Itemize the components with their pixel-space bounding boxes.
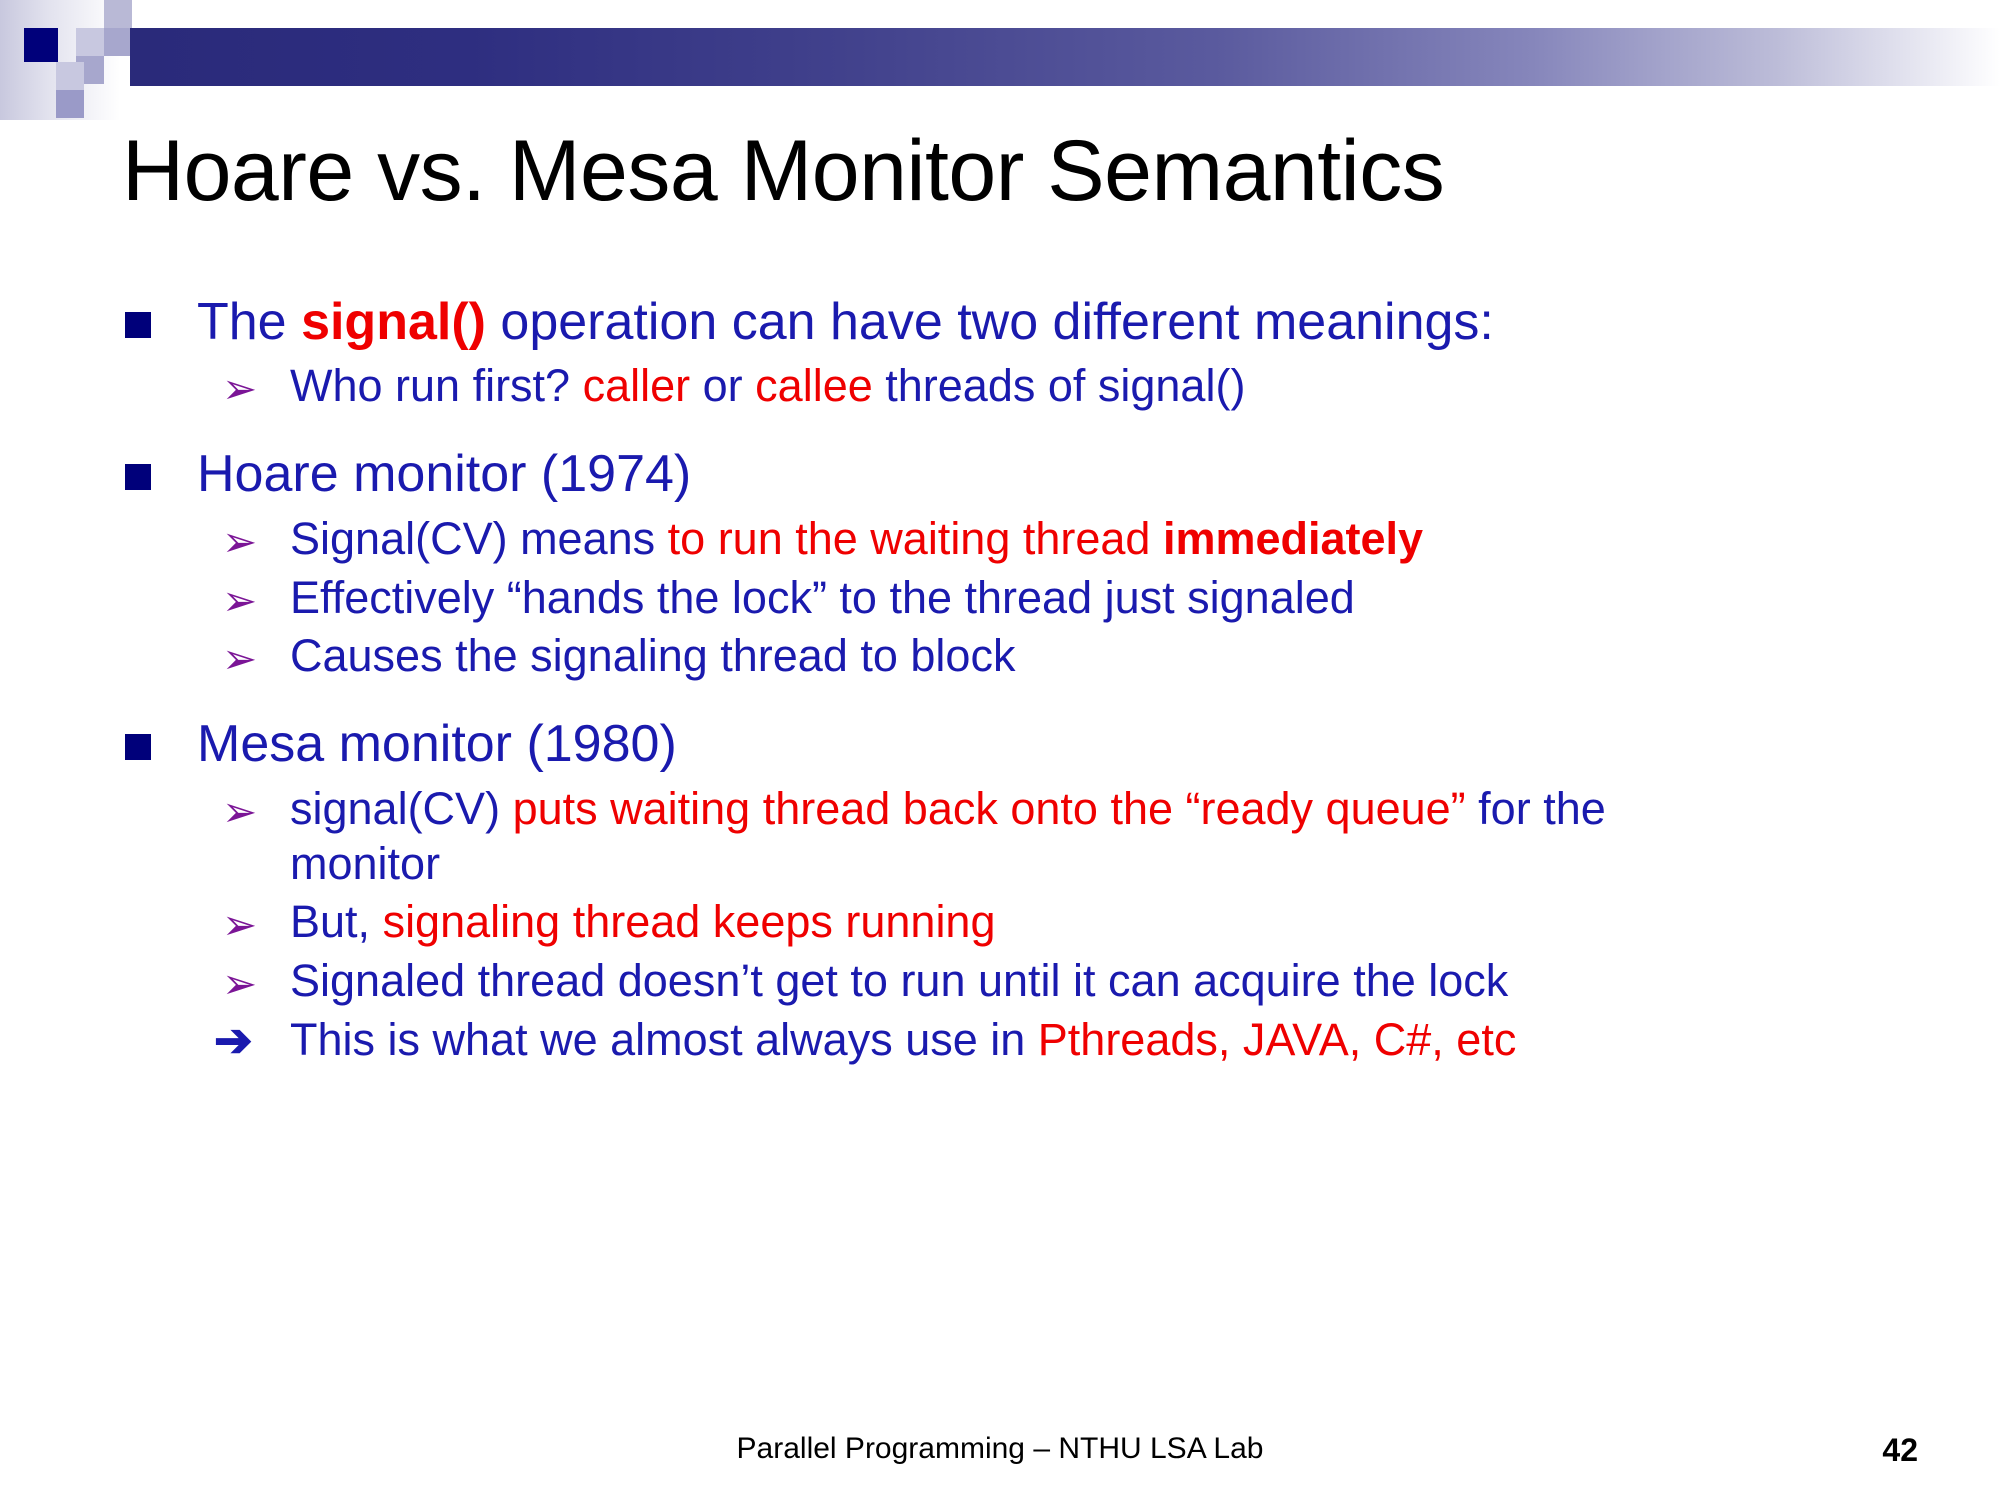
bullet-text: Hoare monitor (1974) — [197, 445, 691, 503]
subbullet-text: Effectively “hands the lock” to the thre… — [290, 572, 1355, 623]
text-run: callee — [755, 360, 873, 411]
square-bullet-icon — [125, 464, 151, 490]
page-title: Hoare vs. Mesa Monitor Semantics — [122, 128, 1922, 214]
subbullet-text: Causes the signaling thread to block — [290, 630, 1015, 681]
text-run: to run the waiting thread — [668, 513, 1163, 564]
bullet-mesa-monitor: Mesa monitor (1980) — [0, 714, 2000, 775]
subbullet-signaling-blocks: ➢ Causes the signaling thread to block — [0, 629, 2000, 684]
text-run: This is what we almost always use in — [290, 1014, 1038, 1065]
pale-square-low-2 — [56, 90, 84, 118]
subbullet-text: This is what we almost always use in Pth… — [290, 1014, 1516, 1065]
text-run: Signal(CV) means — [290, 513, 668, 564]
text-run: puts waiting thread back onto the “ready… — [513, 783, 1466, 834]
text-run: The — [197, 293, 301, 351]
chevron-bullet-icon: ➢ — [222, 786, 257, 837]
subbullet-ready-queue: ➢ signal(CV) puts waiting thread back on… — [0, 782, 2000, 892]
text-run: threads of signal() — [873, 360, 1246, 411]
slide-body: The signal() operation can have two diff… — [0, 292, 2000, 1072]
footer: Parallel Programming – NTHU LSA Lab 42 — [0, 1432, 2000, 1478]
header-gradient-bar — [130, 28, 2000, 86]
text-run: Pthreads, JAVA, C#, etc — [1038, 1014, 1517, 1065]
text-run: signal(CV) — [290, 783, 513, 834]
chevron-bullet-icon: ➢ — [222, 363, 257, 414]
header-decoration — [0, 0, 2000, 120]
text-run: or — [690, 360, 755, 411]
chevron-bullet-icon: ➢ — [222, 958, 257, 1009]
subbullet-text: Signal(CV) means to run the waiting thre… — [290, 513, 1423, 564]
right-arrow-bullet-icon: ➔ — [214, 1012, 253, 1068]
pale-square-top-2 — [104, 28, 132, 56]
text-run: But, — [290, 896, 383, 947]
chevron-bullet-icon: ➢ — [222, 516, 257, 567]
text-run: Effectively “hands the lock” to the thre… — [290, 572, 1355, 623]
subbullet-hands-the-lock: ➢ Effectively “hands the lock” to the th… — [0, 571, 2000, 626]
subbullet-text: Who run first? caller or callee threads … — [290, 360, 1245, 411]
subbullet-text: signal(CV) puts waiting thread back onto… — [290, 783, 1606, 889]
text-run: caller — [583, 360, 691, 411]
subbullet-who-run-first: ➢ Who run first? caller or callee thread… — [0, 359, 2000, 414]
pale-square-mid-1 — [76, 28, 104, 56]
text-run: Hoare monitor (1974) — [197, 445, 691, 503]
subbullet-text: Signaled thread doesn’t get to run until… — [290, 955, 1508, 1006]
subbullet-acquire-lock: ➢ Signaled thread doesn’t get to run unt… — [0, 954, 2000, 1009]
text-run: Causes the signaling thread to block — [290, 630, 1015, 681]
bullet-text: Mesa monitor (1980) — [197, 715, 677, 773]
text-run: Who run first? — [290, 360, 583, 411]
dark-square — [24, 28, 58, 62]
text-run: immediately — [1163, 513, 1423, 564]
chevron-bullet-icon: ➢ — [222, 633, 257, 684]
subbullet-pthreads-java: ➔ This is what we almost always use in P… — [0, 1013, 2000, 1068]
page-number: 42 — [1882, 1432, 1918, 1469]
pale-square-low-1 — [56, 62, 84, 90]
text-run: Mesa monitor (1980) — [197, 715, 677, 773]
footer-label: Parallel Programming – NTHU LSA Lab — [0, 1432, 2000, 1466]
subbullet-signal-immediately: ➢ Signal(CV) means to run the waiting th… — [0, 512, 2000, 567]
pale-square-top — [104, 0, 132, 28]
bullet-text: The signal() operation can have two diff… — [197, 293, 1494, 351]
bullet-signal-meanings: The signal() operation can have two diff… — [0, 292, 2000, 353]
text-run: operation can have two different meaning… — [486, 293, 1494, 351]
bullet-hoare-monitor: Hoare monitor (1974) — [0, 444, 2000, 505]
square-bullet-icon — [125, 312, 151, 338]
square-bullet-icon — [125, 734, 151, 760]
chevron-bullet-icon: ➢ — [222, 575, 257, 626]
subbullet-keeps-running: ➢ But, signaling thread keeps running — [0, 895, 2000, 950]
text-run: Signaled thread doesn’t get to run until… — [290, 955, 1508, 1006]
text-run: signal() — [301, 293, 486, 351]
subbullet-text: But, signaling thread keeps running — [290, 896, 996, 947]
chevron-bullet-icon: ➢ — [222, 899, 257, 950]
text-run: signaling thread keeps running — [383, 896, 996, 947]
